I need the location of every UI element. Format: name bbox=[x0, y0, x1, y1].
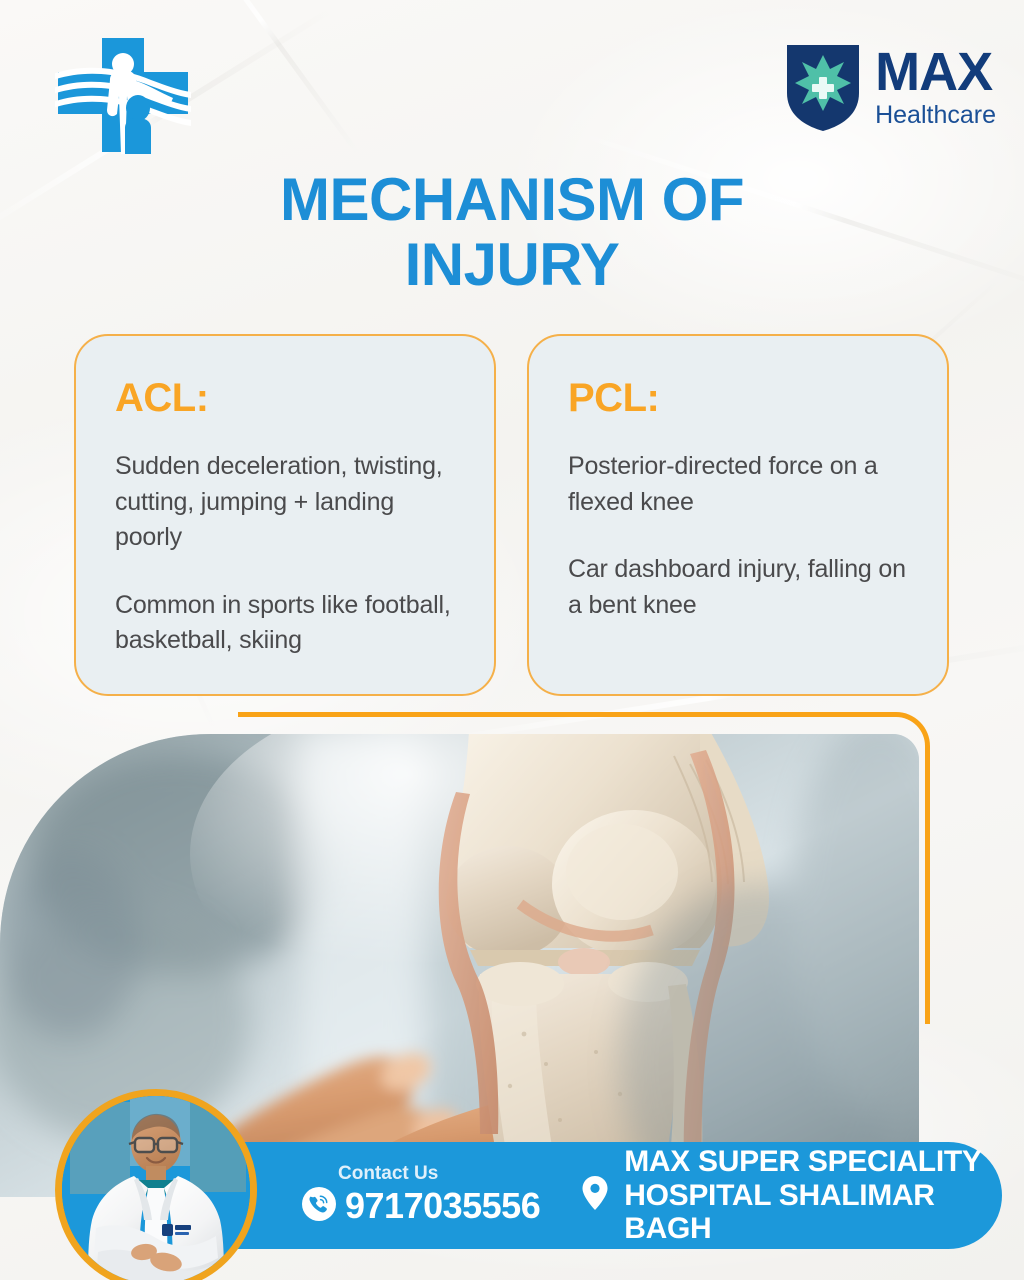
max-shield-icon bbox=[787, 45, 859, 131]
max-wordmark: MAX Healthcare bbox=[875, 46, 996, 130]
page-title-line-1: MECHANISM OF bbox=[0, 168, 1024, 233]
contact-block: Contact Us 9717035556 bbox=[302, 1164, 540, 1228]
hospital-cross-logo bbox=[55, 36, 191, 154]
phone-row[interactable]: 9717035556 bbox=[302, 1185, 540, 1227]
doctor-avatar-photo bbox=[62, 1096, 250, 1280]
phone-icon bbox=[302, 1187, 336, 1226]
hospital-name-line-2: HOSPITAL SHALIMAR BAGH bbox=[624, 1179, 1002, 1246]
info-card-group: ACL: Sudden deceleration, twisting, cutt… bbox=[74, 334, 950, 696]
contact-footer-bar: Contact Us 9717035556 bbox=[182, 1142, 1002, 1249]
max-brand-subtitle: Healthcare bbox=[875, 101, 996, 130]
pcl-card-heading: PCL: bbox=[568, 376, 911, 421]
contact-us-label: Contact Us bbox=[338, 1164, 540, 1185]
acl-card-heading: ACL: bbox=[115, 376, 458, 421]
page-title-line-2: INJURY bbox=[0, 233, 1024, 298]
hospital-name-line-1: MAX SUPER SPECIALITY bbox=[624, 1145, 1002, 1179]
location-pin-icon bbox=[580, 1175, 610, 1216]
phone-number: 9717035556 bbox=[345, 1185, 540, 1227]
address-block: MAX SUPER SPECIALITY HOSPITAL SHALIMAR B… bbox=[580, 1145, 1002, 1246]
max-brand-title: MAX bbox=[875, 46, 992, 99]
hospital-name: MAX SUPER SPECIALITY HOSPITAL SHALIMAR B… bbox=[624, 1145, 1002, 1246]
page-title: MECHANISM OF INJURY bbox=[0, 168, 1024, 298]
acl-card: ACL: Sudden deceleration, twisting, cutt… bbox=[74, 334, 496, 696]
poster-canvas: MAX Healthcare MECHANISM OF INJURY ACL: … bbox=[0, 0, 1024, 1280]
max-healthcare-logo: MAX Healthcare bbox=[787, 45, 996, 131]
pcl-card: PCL: Posterior-directed force on a flexe… bbox=[527, 334, 949, 696]
pcl-card-paragraph-2: Car dashboard injury, falling on a bent … bbox=[568, 552, 911, 623]
acl-card-paragraph-2: Common in sports like football, basketba… bbox=[115, 588, 458, 659]
pcl-card-paragraph-1: Posterior-directed force on a flexed kne… bbox=[568, 449, 911, 520]
acl-card-paragraph-1: Sudden deceleration, twisting, cutting, … bbox=[115, 449, 458, 556]
doctor-avatar bbox=[55, 1089, 257, 1280]
